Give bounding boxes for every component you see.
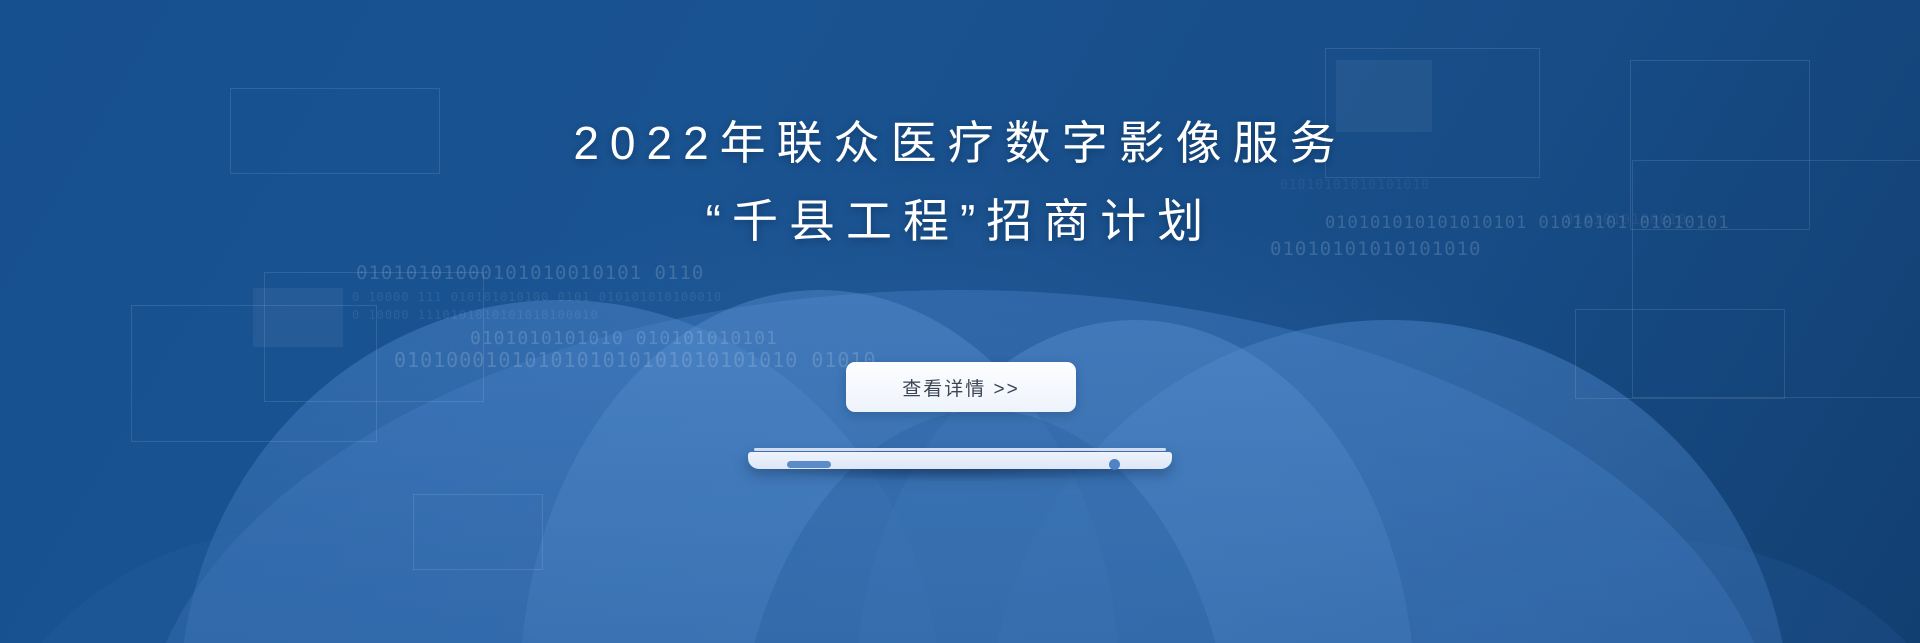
view-details-label: 查看详情 >>	[902, 374, 1019, 401]
cloud-background-graphic	[0, 0, 1920, 643]
device-speaker-slot	[787, 461, 831, 468]
device-shadow	[770, 469, 1150, 481]
promo-banner: 01010101000101010010101 0110 0 10000 111…	[0, 0, 1920, 643]
banner-title-block: 2022年联众医疗数字影像服务 “千县工程”招商计划	[0, 104, 1920, 260]
banner-title-line-2: “千县工程”招商计划	[0, 182, 1920, 260]
view-details-button[interactable]: 查看详情 >>	[846, 362, 1076, 412]
device-base	[748, 452, 1172, 469]
banner-title-line-1: 2022年联众医疗数字影像服务	[0, 104, 1920, 182]
device-screen-edge	[754, 448, 1166, 451]
laptop-device-graphic	[748, 448, 1172, 478]
